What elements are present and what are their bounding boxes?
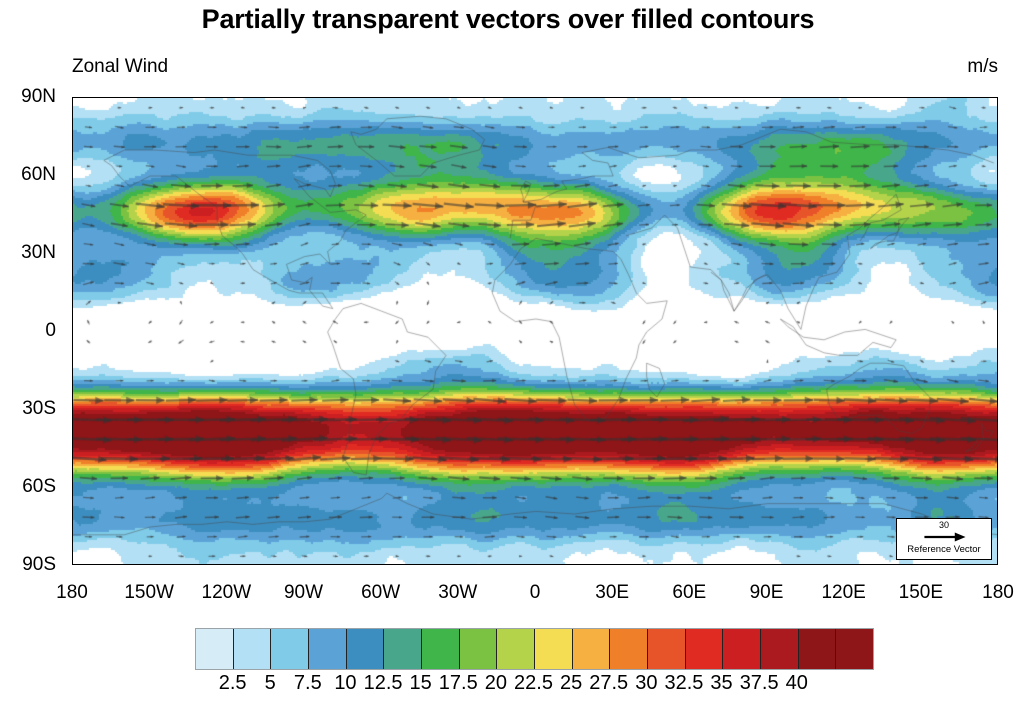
x-axis-minor-tick [741,564,742,565]
colorbar-tick-label: 7.5 [294,672,322,695]
x-axis-minor-tick [818,97,819,98]
colorbar-cell[interactable] [384,629,422,669]
colorbar-cell[interactable] [347,629,385,669]
colorbar-tick-label: 17.5 [439,672,478,695]
x-axis-label: 180 [982,582,1014,604]
colorbar-cell[interactable] [271,629,309,669]
x-axis-label: 30W [438,582,477,604]
colorbar-tick-label: 12.5 [364,672,403,695]
x-axis-minor-tick [972,564,973,565]
colorbar-cell[interactable] [309,629,347,669]
y-axis-major-tick [997,331,998,333]
right-arrow-icon [897,530,991,544]
x-axis-label: 150E [899,582,943,604]
x-axis-minor-tick [278,97,279,98]
y-axis-minor-tick [72,357,73,358]
colorbar-cell[interactable] [648,629,686,669]
x-axis-label: 180 [56,582,88,604]
x-axis-major-tick [72,97,74,98]
colorbar-cell[interactable] [610,629,648,669]
x-axis-minor-tick [124,564,125,565]
x-axis-major-tick [72,564,74,565]
x-axis-minor-tick [201,97,202,98]
x-axis-major-tick [921,564,923,565]
y-axis-minor-tick [997,383,998,384]
colorbar-tick-label: 32.5 [664,672,703,695]
y-axis-label: 0 [45,320,56,342]
x-axis-major-tick [767,97,769,98]
y-axis-minor-tick [72,305,73,306]
x-axis-label: 150W [124,582,174,604]
y-axis-major-tick [997,175,998,177]
colorbar-cell[interactable] [460,629,498,669]
x-axis-minor-tick [175,564,176,565]
x-axis-major-tick [535,97,537,98]
y-axis-minor-tick [72,461,73,462]
x-axis-label: 60E [672,582,706,604]
x-axis-major-tick [149,97,151,98]
map-plot-area: 30 Reference Vector [72,97,998,565]
colorbar-tick-label: 20 [485,672,507,695]
colorbar-tick-label: 37.5 [740,672,779,695]
x-axis-minor-tick [252,564,253,565]
x-axis-minor-tick [818,564,819,565]
y-axis-major-tick [72,253,73,255]
x-axis-minor-tick [947,97,948,98]
colorbar-tick-label: 10 [334,672,356,695]
reference-vector-magnitude: 30 [939,520,949,530]
x-axis-minor-tick [587,97,588,98]
x-axis-major-tick [149,564,151,565]
y-axis-major-tick [997,253,998,255]
x-axis-minor-tick [329,97,330,98]
y-axis-minor-tick [72,201,73,202]
x-axis-minor-tick [792,564,793,565]
x-axis-major-tick [767,564,769,565]
y-axis-major-tick [997,487,998,489]
y-axis-minor-tick [72,539,73,540]
y-axis-major-tick [72,175,73,177]
x-axis-major-tick [458,564,460,565]
colorbar-cell[interactable] [723,629,761,669]
colorbar-cell[interactable] [422,629,460,669]
y-axis-minor-tick [997,357,998,358]
x-axis-minor-tick [561,564,562,565]
colorbar-cell[interactable] [234,629,272,669]
y-axis-minor-tick [72,227,73,228]
colorbar-tick-label: 5 [265,672,276,695]
x-axis-major-tick [227,564,229,565]
x-axis-major-tick [612,97,614,98]
y-axis-major-tick [72,487,73,489]
y-axis-label: 60N [21,164,56,186]
x-axis-minor-tick [638,564,639,565]
x-axis-label: 30E [595,582,629,604]
units-label: m/s [967,56,998,78]
x-axis-major-tick [612,564,614,565]
y-axis-major-tick [72,331,73,333]
reference-vector-caption: Reference Vector [907,544,980,555]
y-axis-label: 90S [22,554,56,576]
x-axis-minor-tick [664,564,665,565]
x-axis-minor-tick [947,564,948,565]
y-axis-major-tick [997,97,998,99]
x-axis-label: 0 [530,582,541,604]
x-axis-minor-tick [870,97,871,98]
reference-vector-box: 30 Reference Vector [896,518,992,560]
colorbar-tick-label: 25 [560,672,582,695]
x-axis-minor-tick [355,97,356,98]
y-axis-minor-tick [997,435,998,436]
colorbar-tick-label: 35 [710,672,732,695]
x-axis-minor-tick [484,564,485,565]
x-axis-minor-tick [587,564,588,565]
colorbar-cell[interactable] [497,629,535,669]
x-axis-major-tick [381,97,383,98]
y-axis-minor-tick [72,123,73,124]
colorbar-tick-label: 22.5 [514,672,553,695]
x-axis-minor-tick [407,564,408,565]
x-axis-minor-tick [407,97,408,98]
x-axis-major-tick [690,564,692,565]
x-axis-label: 60W [361,582,400,604]
x-axis-minor-tick [741,97,742,98]
colorbar-cell[interactable] [573,629,611,669]
x-axis-minor-tick [895,564,896,565]
y-axis-minor-tick [72,279,73,280]
x-axis-minor-tick [895,97,896,98]
y-axis-minor-tick [72,513,73,514]
x-axis-minor-tick [972,97,973,98]
x-axis-minor-tick [98,564,99,565]
x-axis-minor-tick [792,97,793,98]
y-axis-minor-tick [997,227,998,228]
x-axis-major-tick [690,97,692,98]
colorbar-tick-label: 2.5 [219,672,247,695]
x-axis-minor-tick [664,97,665,98]
y-axis-minor-tick [997,513,998,514]
x-axis-major-tick [844,564,846,565]
x-axis-minor-tick [124,97,125,98]
colorbar[interactable] [195,628,874,670]
x-axis-major-tick [227,97,229,98]
x-axis-minor-tick [278,564,279,565]
x-axis-major-tick [458,97,460,98]
x-axis-minor-tick [638,97,639,98]
y-axis-minor-tick [997,201,998,202]
y-axis-label: 90N [21,86,56,108]
y-axis-minor-tick [997,305,998,306]
y-axis-minor-tick [997,539,998,540]
colorbar-cell[interactable] [761,629,799,669]
x-axis-minor-tick [870,564,871,565]
x-axis-major-tick [304,97,306,98]
x-axis-minor-tick [355,564,356,565]
x-axis-label: 120W [202,582,252,604]
x-axis-major-tick [381,564,383,565]
page-title: Partially transparent vectors over fille… [0,4,1016,35]
x-axis-minor-tick [98,97,99,98]
x-axis-minor-tick [715,97,716,98]
x-axis-label: 120E [821,582,865,604]
y-axis-minor-tick [997,461,998,462]
colorbar-tick-label: 30 [635,672,657,695]
y-axis-label: 30S [22,398,56,420]
x-axis-minor-tick [329,564,330,565]
x-axis-major-tick [921,97,923,98]
x-axis-minor-tick [201,564,202,565]
x-axis-label: 90E [750,582,784,604]
colorbar-tick-label: 40 [786,672,808,695]
colorbar-tick-label: 15 [410,672,432,695]
x-axis-minor-tick [561,97,562,98]
y-axis-minor-tick [72,435,73,436]
x-axis-minor-tick [484,97,485,98]
x-axis-minor-tick [432,564,433,565]
y-axis-minor-tick [997,123,998,124]
colorbar-cell[interactable] [686,629,724,669]
colorbar-cell[interactable] [799,629,837,669]
x-axis-major-tick [844,97,846,98]
x-axis-minor-tick [252,97,253,98]
x-axis-major-tick [304,564,306,565]
colorbar-cell[interactable] [535,629,573,669]
x-axis-label: 90W [284,582,323,604]
x-axis-major-tick [535,564,537,565]
colorbar-cell[interactable] [196,629,234,669]
y-axis-minor-tick [997,149,998,150]
x-axis-minor-tick [509,564,510,565]
x-axis-minor-tick [715,564,716,565]
x-axis-minor-tick [432,97,433,98]
y-axis-major-tick [997,409,998,411]
y-axis-label: 60S [22,476,56,498]
contour-vector-canvas [73,98,998,565]
x-axis-minor-tick [175,97,176,98]
colorbar-tick-label: 27.5 [589,672,628,695]
x-axis-minor-tick [509,97,510,98]
colorbar-cell[interactable] [836,629,873,669]
y-axis-minor-tick [72,383,73,384]
y-axis-major-tick [72,409,73,411]
y-axis-minor-tick [72,149,73,150]
y-axis-minor-tick [997,279,998,280]
variable-label: Zonal Wind [72,56,168,78]
y-axis-label: 30N [21,242,56,264]
